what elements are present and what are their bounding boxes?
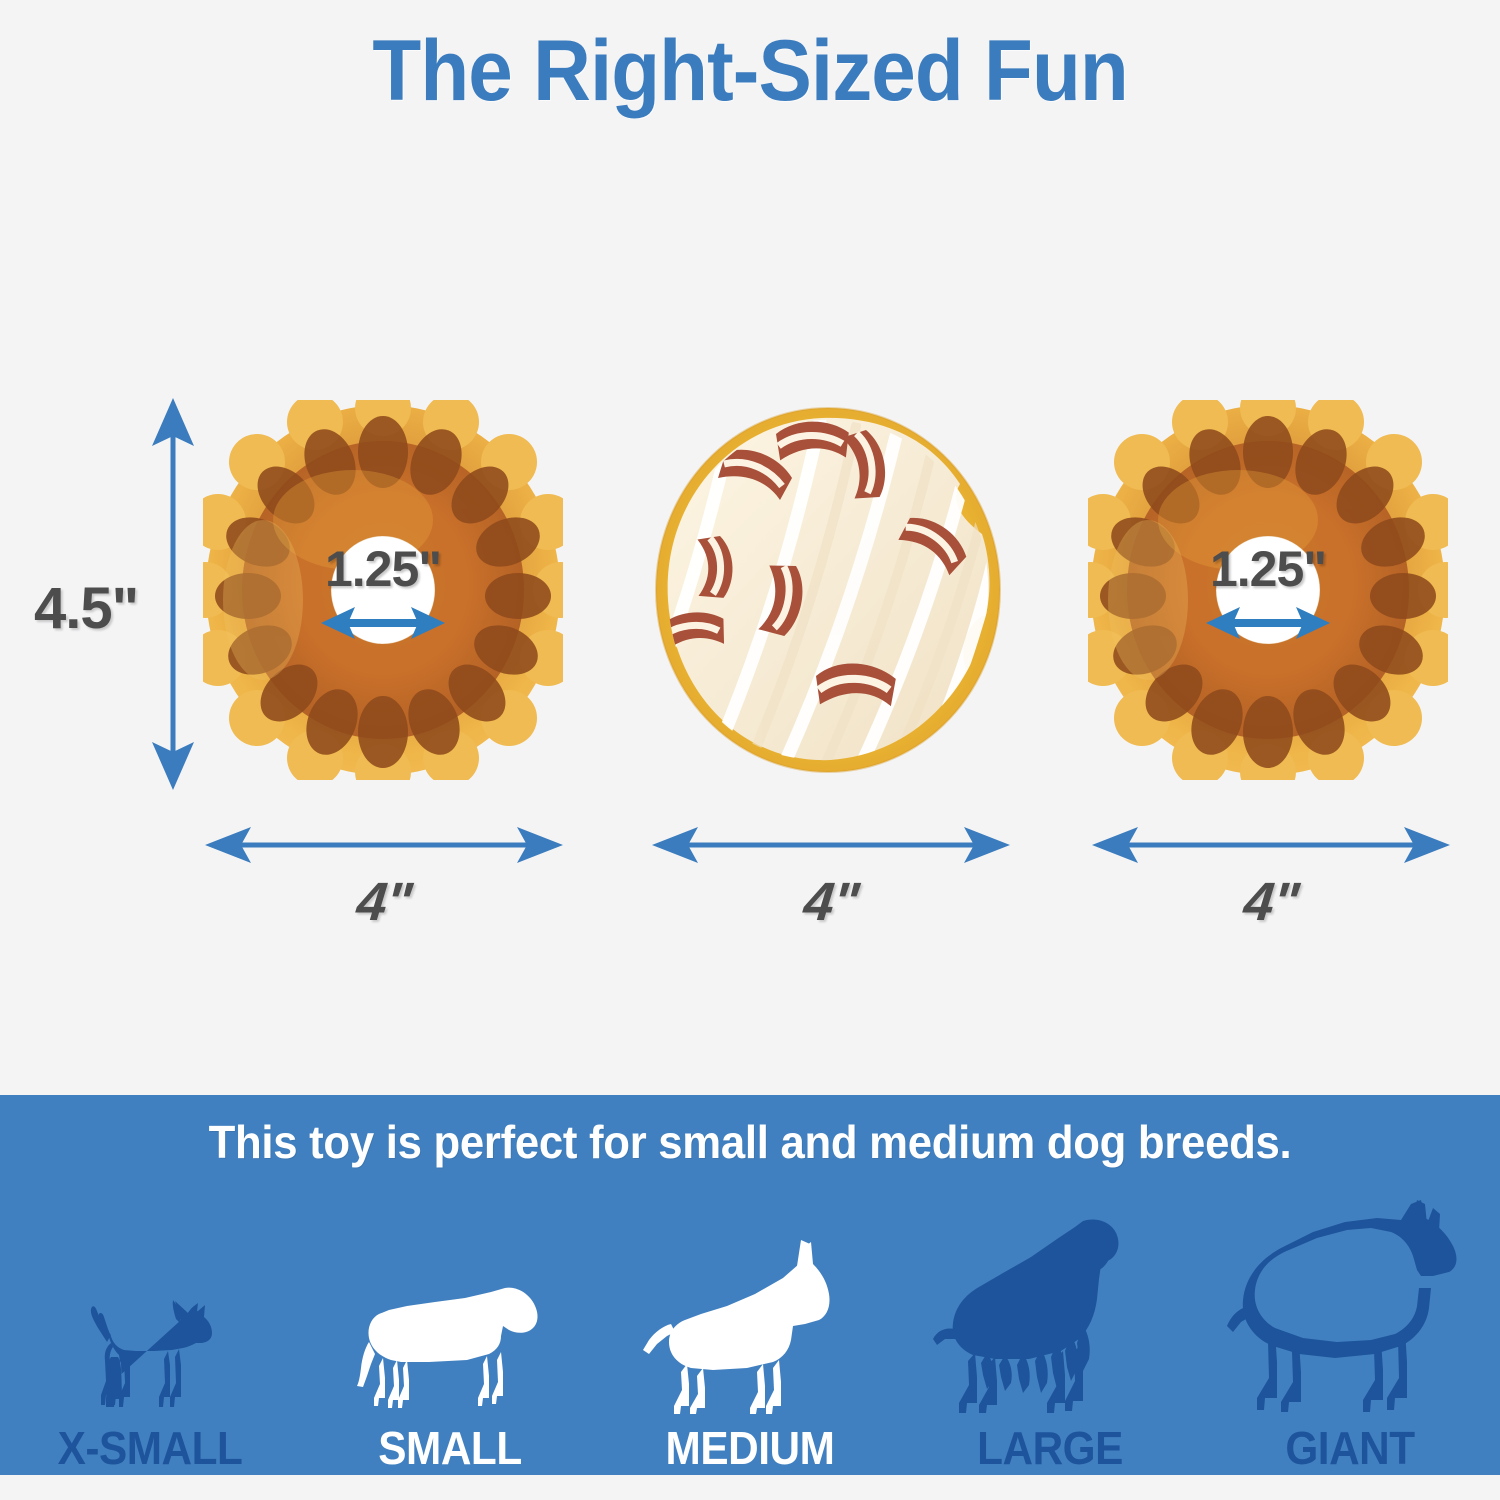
chihuahua-silhouette-icon: [80, 1295, 220, 1415]
toy-2-width-label: 4": [649, 871, 1014, 933]
banner-headline: This toy is perfect for small and medium…: [38, 1095, 1463, 1169]
toy-1-width-dimension: 4": [205, 825, 563, 871]
bull-terrier-silhouette-icon: [643, 1240, 858, 1415]
toy-3-image: 1.25": [1088, 400, 1448, 780]
double-arrow-horizontal-icon: [1092, 825, 1450, 865]
large-dog-figure: [900, 1205, 1200, 1415]
small-dog-figure: [300, 1205, 600, 1415]
great-dane-silhouette-icon: [1225, 1200, 1475, 1415]
size-option-small[interactable]: SMALL: [300, 1205, 600, 1475]
height-dimension-arrow: [150, 398, 196, 790]
double-arrow-horizontal-icon: [652, 825, 1010, 865]
dog-size-scale: X-SMALL SMALL: [0, 1175, 1500, 1475]
giant-dog-figure: [1200, 1205, 1500, 1415]
toy-2-width-dimension: 4": [652, 825, 1010, 871]
size-label-giant: GIANT: [1212, 1421, 1488, 1475]
size-option-medium[interactable]: MEDIUM: [600, 1205, 900, 1475]
toy-2-image: [648, 400, 1008, 780]
size-option-large[interactable]: LARGE: [900, 1205, 1200, 1475]
size-label-medium: MEDIUM: [612, 1421, 888, 1475]
size-label-x-small: X-SMALL: [12, 1421, 288, 1475]
x-small-dog-figure: [0, 1205, 300, 1415]
product-size-diagram: 4.5": [0, 330, 1500, 950]
toy-3-width-dimension: 4": [1092, 825, 1450, 871]
toy-1-image: 1.25": [203, 400, 563, 780]
dog-size-banner: This toy is perfect for small and medium…: [0, 1095, 1500, 1475]
maple-bacon-donut-icon: [648, 400, 1008, 780]
page-title: The Right-Sized Fun: [0, 22, 1500, 121]
page-title-text: The Right-Sized Fun: [372, 22, 1127, 121]
size-option-x-small[interactable]: X-SMALL: [0, 1205, 300, 1475]
size-option-giant[interactable]: GIANT: [1200, 1205, 1500, 1475]
glazed-old-fashioned-donut-icon: [1088, 400, 1448, 780]
height-dimension-label: 4.5": [34, 575, 138, 642]
double-arrow-vertical-icon: [150, 398, 196, 790]
size-label-large: LARGE: [912, 1421, 1188, 1475]
double-arrow-horizontal-icon: [205, 825, 563, 865]
toy-1-width-label: 4": [202, 871, 567, 933]
dachshund-silhouette-icon: [355, 1270, 545, 1415]
size-label-small: SMALL: [312, 1421, 588, 1475]
medium-dog-figure: [600, 1205, 900, 1415]
setter-silhouette-icon: [933, 1215, 1168, 1415]
toy-3-width-label: 4": [1089, 871, 1454, 933]
glazed-old-fashioned-donut-icon: [203, 400, 563, 780]
